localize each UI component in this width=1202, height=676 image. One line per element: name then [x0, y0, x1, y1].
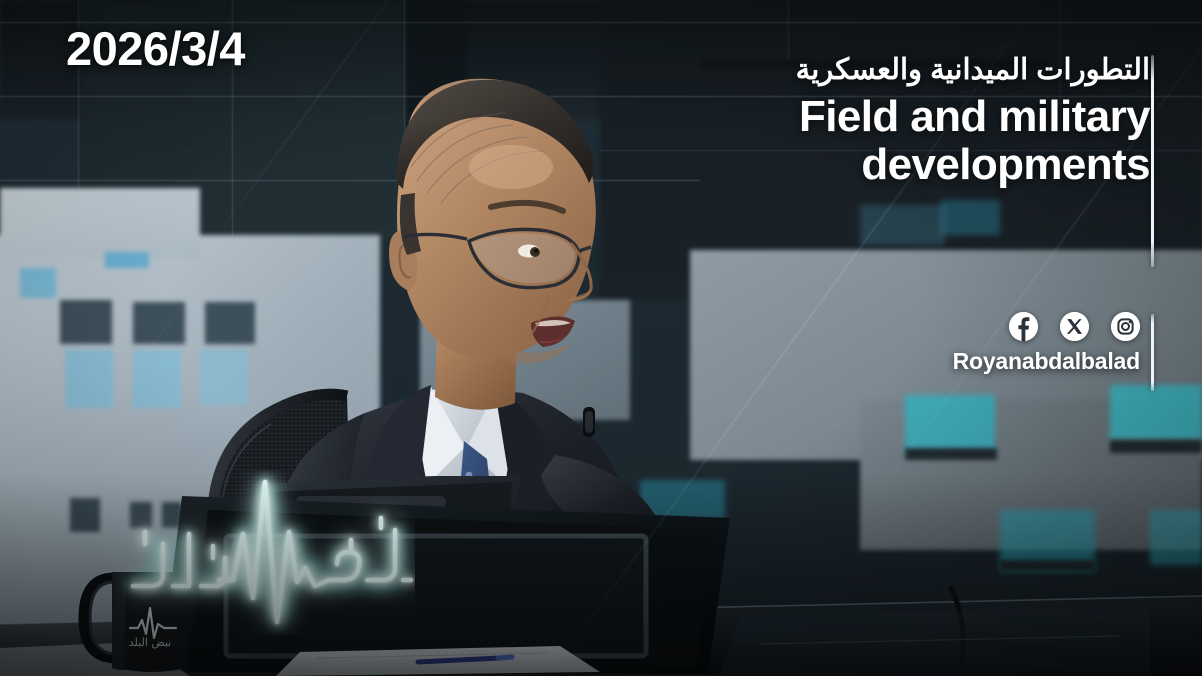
headline-block: التطورات الميدانية والعسكرية Field and m… — [630, 52, 1150, 188]
branded-mug: نبض البلد — [78, 572, 208, 676]
broadcast-date: 2026/3/4 — [66, 25, 245, 72]
mug-logo-text: نبض البلد — [129, 636, 172, 649]
backdrop-accent-stripe — [1110, 440, 1202, 453]
backdrop-window — [133, 350, 181, 408]
backdrop-window — [20, 268, 56, 298]
backdrop-set-line-vertical — [788, 0, 789, 60]
headline-english-line1: Field and military — [630, 93, 1150, 141]
backdrop-cyan-window — [940, 200, 1000, 235]
headline-english-line2: developments — [630, 141, 1150, 189]
backdrop-window — [65, 350, 113, 408]
facebook-icon[interactable] — [1009, 312, 1038, 341]
backdrop-accent-stripe — [905, 448, 997, 460]
social-handle: Royanabdalbalad — [940, 350, 1140, 373]
backdrop-window — [133, 302, 185, 344]
backdrop-cyan-window — [1110, 385, 1202, 440]
social-icon-row — [940, 312, 1140, 341]
backdrop-cyan-window — [860, 205, 945, 245]
x-twitter-icon[interactable] — [1060, 312, 1089, 341]
backdrop-window — [60, 300, 112, 344]
backdrop-building-block — [0, 188, 200, 258]
social-block: Royanabdalbalad — [940, 312, 1140, 373]
backdrop-window — [205, 302, 255, 344]
backdrop-cyan-window — [905, 395, 995, 453]
headline-arabic: التطورات الميدانية والعسكرية — [630, 52, 1150, 88]
headline-divider-rule — [1151, 55, 1154, 267]
social-divider-rule — [1151, 314, 1154, 391]
backdrop-window — [105, 252, 149, 268]
instagram-icon[interactable] — [1111, 312, 1140, 341]
headline-english: Field and military developments — [630, 93, 1150, 188]
broadcast-frame: نبض البلد — [0, 0, 1202, 676]
